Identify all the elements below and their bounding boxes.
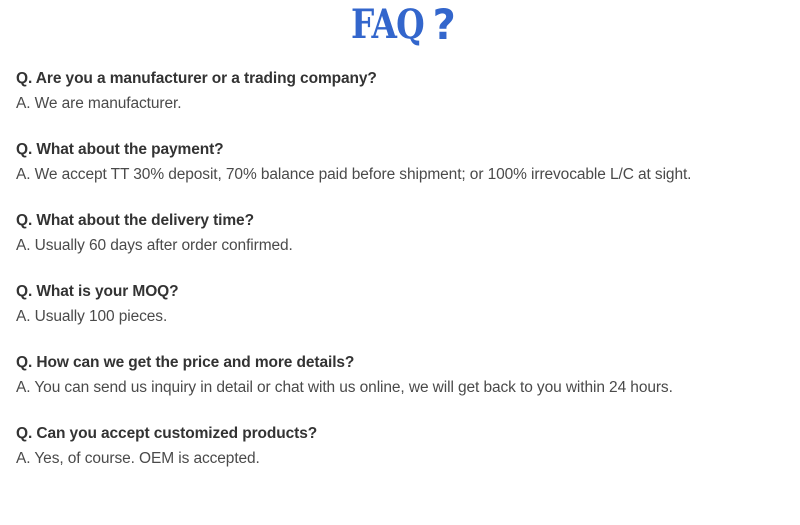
faq-list: Q. Are you a manufacturer or a trading c… — [0, 56, 800, 471]
qa-question: Q. What about the delivery time? — [16, 208, 796, 233]
qa-item: Q. Can you accept customized products? A… — [16, 421, 796, 471]
qa-question: Q. How can we get the price and more det… — [16, 350, 796, 375]
qa-answer: A. Usually 60 days after order confirmed… — [16, 233, 796, 258]
qa-answer: A. We accept TT 30% deposit, 70% balance… — [16, 162, 796, 187]
qa-answer: A. Usually 100 pieces. — [16, 304, 796, 329]
faq-title-word: FAQ — [351, 2, 424, 48]
page-title: FAQ? — [0, 0, 800, 56]
qa-question: Q. Can you accept customized products? — [16, 421, 796, 446]
qa-question: Q. Are you a manufacturer or a trading c… — [16, 66, 796, 91]
qa-answer: A. You can send us inquiry in detail or … — [16, 375, 796, 400]
qa-item: Q. How can we get the price and more det… — [16, 350, 796, 400]
qa-item: Q. Are you a manufacturer or a trading c… — [16, 66, 796, 116]
qa-question: Q. What is your MOQ? — [16, 279, 796, 304]
qa-item: Q. What about the delivery time? A. Usua… — [16, 208, 796, 258]
qa-item: Q. What is your MOQ? A. Usually 100 piec… — [16, 279, 796, 329]
qa-item: Q. What about the payment? A. We accept … — [16, 137, 796, 187]
qa-answer: A. We are manufacturer. — [16, 91, 796, 116]
qa-answer: A. Yes, of course. OEM is accepted. — [16, 446, 796, 471]
qa-question: Q. What about the payment? — [16, 137, 796, 162]
faq-page: FAQ? Q. Are you a manufacturer or a trad… — [0, 0, 800, 525]
question-mark-icon: ? — [433, 2, 456, 48]
